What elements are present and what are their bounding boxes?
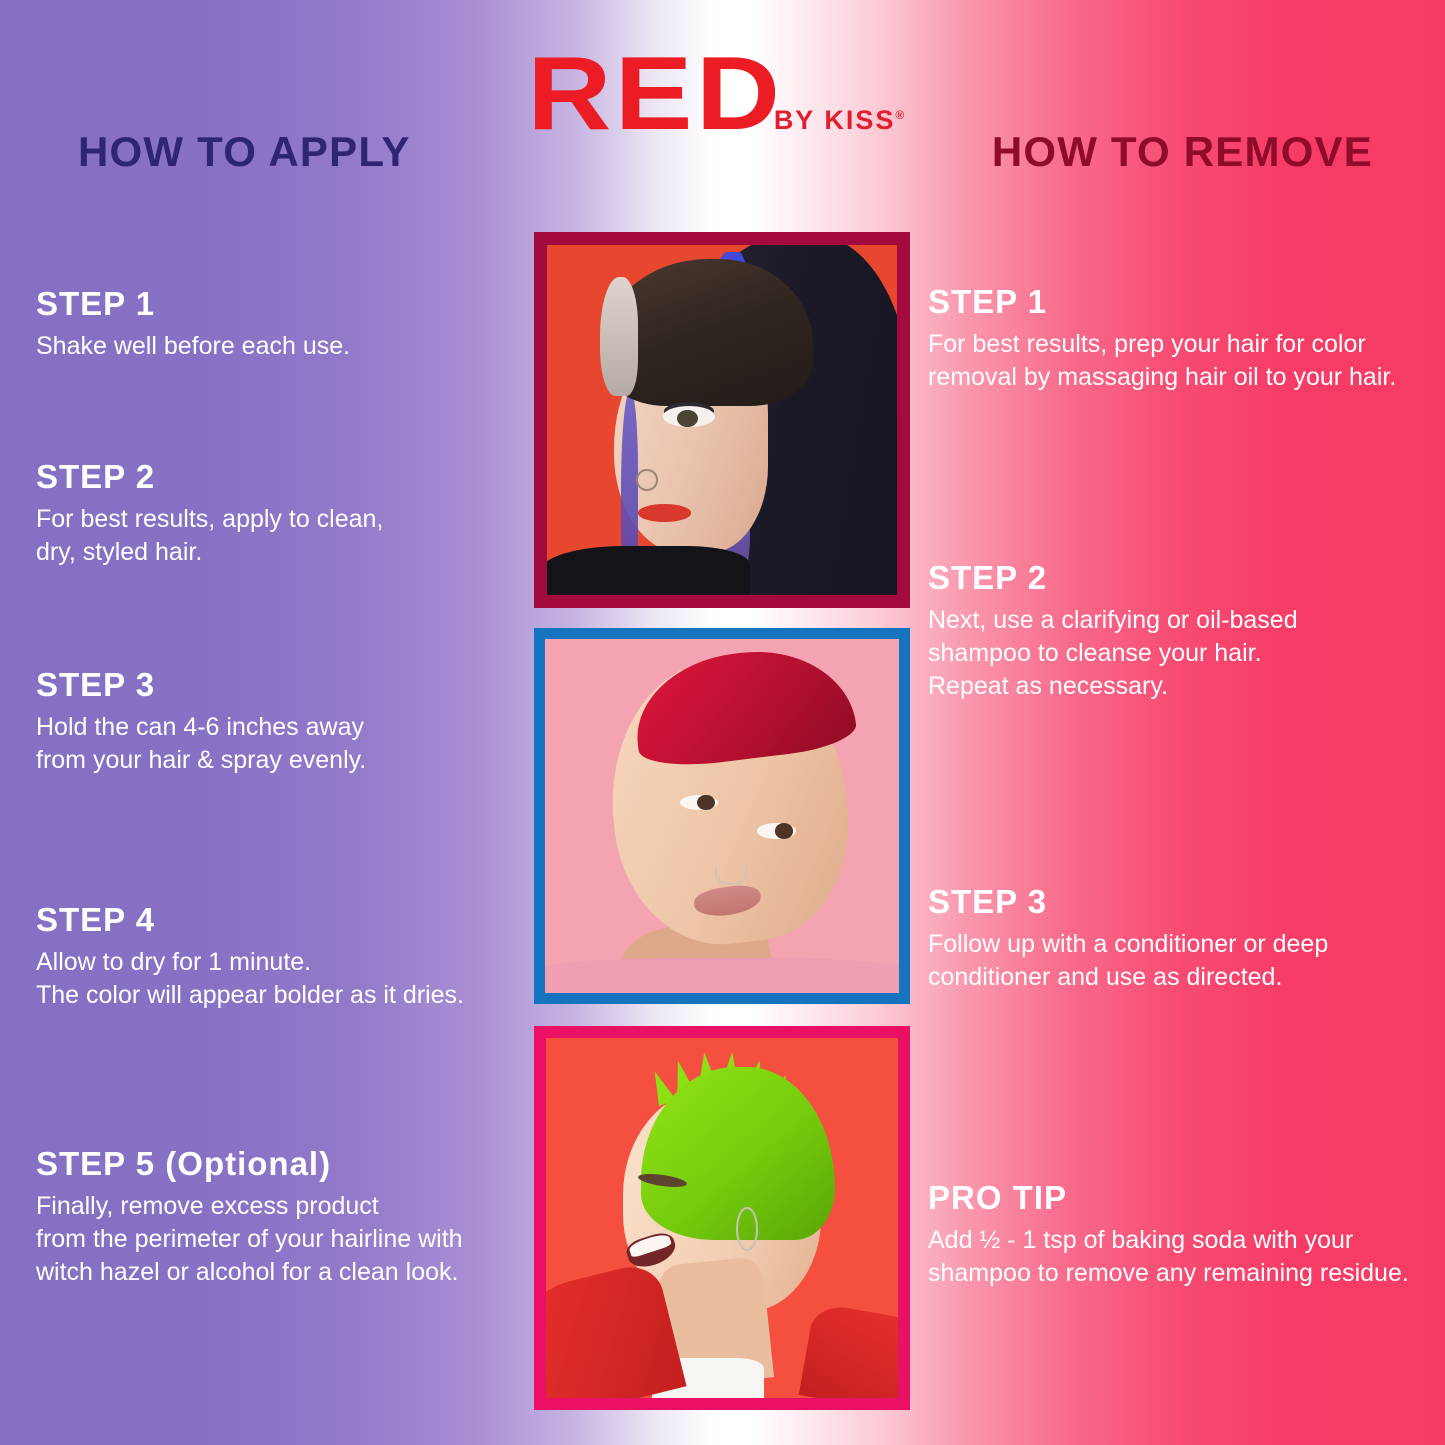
photo-model-blue-black-hair bbox=[534, 232, 910, 608]
photo-1-canvas bbox=[547, 245, 897, 595]
logo-tagline: BY KISS® bbox=[774, 107, 904, 134]
apply-step-3-body: Hold the can 4-6 inches away from your h… bbox=[36, 711, 366, 778]
photo-model-red-buzzcut bbox=[534, 628, 910, 1004]
photo-2-canvas bbox=[545, 639, 899, 993]
photo-3-jacket-right bbox=[799, 1302, 898, 1398]
remove-pro-tip: PRO TIP Add ½ - 1 tsp of baking soda wit… bbox=[928, 1180, 1409, 1290]
remove-step-3-body: Follow up with a conditioner or deep con… bbox=[928, 928, 1328, 995]
how-to-apply-heading: HOW TO APPLY bbox=[78, 131, 411, 173]
apply-step-1-body: Shake well before each use. bbox=[36, 330, 350, 363]
photo-model-green-spiky-hair bbox=[534, 1026, 910, 1410]
remove-step-1: STEP 1 For best results, prep your hair … bbox=[928, 284, 1396, 394]
remove-step-3-title: STEP 3 bbox=[928, 884, 1328, 921]
how-to-remove-heading: HOW TO REMOVE bbox=[992, 131, 1373, 173]
remove-pro-tip-title: PRO TIP bbox=[928, 1180, 1409, 1217]
remove-pro-tip-body: Add ½ - 1 tsp of baking soda with your s… bbox=[928, 1224, 1409, 1291]
remove-step-3: STEP 3 Follow up with a conditioner or d… bbox=[928, 884, 1328, 994]
apply-step-3-title: STEP 3 bbox=[36, 667, 366, 704]
logo-wordmark: RED bbox=[527, 42, 783, 146]
apply-step-1-title: STEP 1 bbox=[36, 286, 350, 323]
apply-step-3: STEP 3 Hold the can 4-6 inches away from… bbox=[36, 667, 366, 777]
photo-1-iris bbox=[677, 410, 698, 428]
photo-1-nose-ring bbox=[636, 469, 658, 491]
photo-2-iris-left bbox=[697, 795, 715, 811]
apply-step-2: STEP 2 For best results, apply to clean,… bbox=[36, 459, 383, 569]
photo-3-canvas bbox=[546, 1038, 898, 1398]
apply-step-1: STEP 1 Shake well before each use. bbox=[36, 286, 350, 363]
apply-step-5: STEP 5 (Optional) Finally, remove excess… bbox=[36, 1146, 463, 1290]
remove-step-1-body: For best results, prep your hair for col… bbox=[928, 328, 1396, 395]
apply-step-2-body: For best results, apply to clean, dry, s… bbox=[36, 503, 383, 570]
apply-step-4-body: Allow to dry for 1 minute. The color wil… bbox=[36, 946, 464, 1013]
remove-step-2: STEP 2 Next, use a clarifying or oil-bas… bbox=[928, 560, 1298, 704]
registered-trademark-icon: ® bbox=[895, 108, 904, 122]
photo-1-shoulder bbox=[547, 546, 750, 595]
apply-step-2-title: STEP 2 bbox=[36, 459, 383, 496]
photo-2-iris-right bbox=[775, 823, 793, 839]
apply-step-5-title: STEP 5 (Optional) bbox=[36, 1146, 463, 1183]
photo-1-blonde-streak bbox=[600, 277, 639, 396]
photo-1-lips bbox=[638, 504, 691, 522]
photo-3-earring bbox=[736, 1207, 758, 1251]
apply-step-5-body: Finally, remove excess product from the … bbox=[36, 1190, 463, 1290]
photo-2-shirt bbox=[545, 958, 899, 993]
remove-step-1-title: STEP 1 bbox=[928, 284, 1396, 321]
logo-tagline-text: BY KISS bbox=[774, 105, 896, 135]
apply-step-4-title: STEP 4 bbox=[36, 902, 464, 939]
remove-step-2-title: STEP 2 bbox=[928, 560, 1298, 597]
infographic-page: RED BY KISS® HOW TO APPLY HOW TO REMOVE … bbox=[0, 0, 1445, 1445]
remove-step-2-body: Next, use a clarifying or oil-based sham… bbox=[928, 604, 1298, 704]
apply-step-4: STEP 4 Allow to dry for 1 minute. The co… bbox=[36, 902, 464, 1012]
